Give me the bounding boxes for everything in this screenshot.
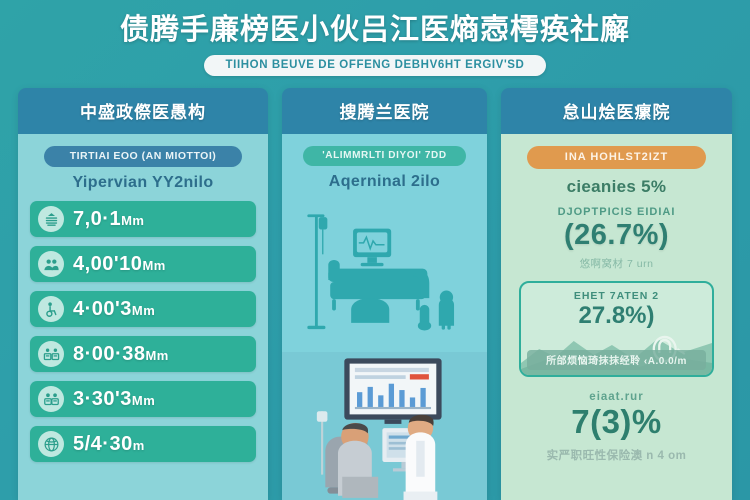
medical-chart-icon [38, 341, 64, 367]
panel-right-subheading: cieanies 5% [513, 177, 720, 197]
hospital-bed-ward-illustration [294, 200, 475, 362]
page-title: 债腾手廉榜医小伙吕江医熵悫樗痪社廨 [0, 14, 750, 46]
panel-left-body: TIRTIAI EOO (AN MIOTTOI) Yipervian YY2ni… [18, 134, 268, 500]
panel-middle-tag: 'ALIMMRLTI DIYOI' 7DD [303, 146, 466, 166]
table-row[interactable]: 5/4·30m [30, 426, 256, 462]
globe-care-icon [38, 431, 64, 457]
status-badge: INA HOHLST2IZT [527, 146, 705, 169]
table-row[interactable]: 3·30'3Mm [30, 381, 256, 417]
table-row[interactable]: 4·00'3Mm [30, 291, 256, 327]
stat-card-label: EHET 7ATEN 2 [521, 290, 712, 302]
panel-left-heading: 中盛政傺医愚构 [18, 88, 268, 134]
people-group-icon [38, 251, 64, 277]
panel-middle[interactable]: 搜腾兰医院 'ALIMMRLTI DIYOI' 7DD Aqerninal 2i… [282, 88, 487, 500]
stat-primary-note: 悠啊窝材 7 urn [513, 256, 720, 271]
panel-right-body: INA HOHLST2IZT cieanies 5% DJOPTPICIS EI… [501, 134, 732, 500]
stat-value: 5/4·30m [73, 433, 145, 456]
stat-value: 8·00·38Mm [73, 343, 169, 366]
stat-value: 3·30'3Mm [73, 388, 155, 411]
panel-middle-subheading: Aqerninal 2ilo [294, 173, 475, 191]
table-row[interactable]: 7,0·1Mm [30, 201, 256, 237]
two-persons-icon [38, 386, 64, 412]
document-stack-icon [38, 206, 64, 232]
stat-card-footer: 所邰烦恼琦抹抹经聆 ‹A.0.0/m [527, 350, 706, 370]
panel-right[interactable]: 怠山烩医瘰院 INA HOHLST2IZT cieanies 5% DJOPTP… [501, 88, 732, 500]
table-row[interactable]: 4,00'10Mm [30, 246, 256, 282]
subtitle-badge: TIIHON BEUVE DE OFFENG DEBHV6HT ERGIV'SD [204, 55, 547, 76]
panel-middle-heading: 搜腾兰医院 [282, 88, 487, 134]
panel-left-tag: TIRTIAI EOO (AN MIOTTOI) [44, 146, 243, 167]
stat-secondary-value: 7(3)% [513, 403, 720, 441]
table-row[interactable]: 8·00·38Mm [30, 336, 256, 372]
stat-value: 4,00'10Mm [73, 253, 166, 276]
panel-middle-body: 'ALIMMRLTI DIYOI' 7DD Aqerninal 2ilo [282, 134, 487, 500]
stat-value: 7,0·1Mm [73, 208, 144, 231]
panel-left[interactable]: 中盛政傺医愚构 TIRTIAI EOO (AN MIOTTOI) Yipervi… [18, 88, 268, 500]
stat-card-value: 27.8%) [521, 302, 712, 330]
stat-primary-value: (26.7%) [513, 219, 720, 252]
wheelchair-patient-icon [38, 296, 64, 322]
panel-left-subheading: Yipervian YY2nilo [30, 174, 256, 192]
stat-secondary-label: eiaat.rur [513, 391, 720, 403]
stat-secondary-note: 实严职旺性保险澳 n 4 om [513, 447, 720, 463]
panel-container: 中盛政傺医愚构 TIRTIAI EOO (AN MIOTTOI) Yipervi… [18, 88, 732, 500]
stat-primary-label: DJOPTPICIS EIDIAI [513, 206, 720, 218]
stat-value: 4·00'3Mm [73, 298, 155, 321]
doctor-patient-consultation-illustration [282, 352, 487, 500]
panel-right-heading: 怠山烩医瘰院 [501, 88, 732, 134]
stat-row-list: 7,0·1Mm 4,00'10Mm [30, 201, 256, 462]
page-header: 债腾手廉榜医小伙吕江医熵悫樗痪社廨 TIIHON BEUVE DE OFFENG… [0, 0, 750, 84]
stat-card[interactable]: EHET 7ATEN 2 27.8%) 所邰烦恼琦抹抹经聆 ‹A.0.0/m [519, 281, 714, 377]
